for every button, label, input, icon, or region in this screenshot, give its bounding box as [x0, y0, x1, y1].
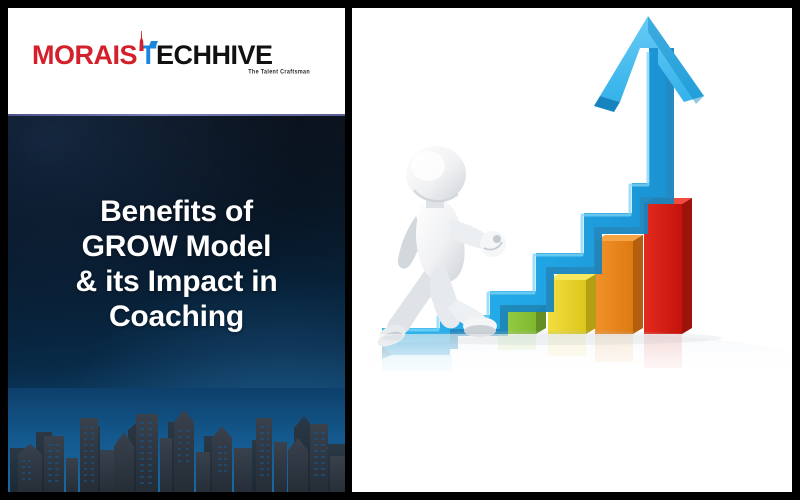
logo-text-morais: MORAIS — [32, 40, 137, 70]
brand-logo[interactable]: MORAISTECHHIVE The Talent Craftsman — [32, 40, 312, 92]
title-line-3: & its Impact in — [18, 264, 335, 299]
logo-tagline: The Talent Craftsman — [248, 69, 310, 76]
illustration-panel — [352, 8, 792, 492]
bar-4-red — [644, 198, 692, 334]
bar-3-orange — [595, 235, 643, 334]
poster-canvas: MORAISTECHHIVE The Talent Craftsman Bene… — [0, 0, 800, 500]
title-line-2: GROW Model — [18, 229, 335, 264]
logo-text-t: T — [137, 40, 156, 70]
logo-text-echhive: ECHHIVE — [156, 40, 273, 70]
page-title: Benefits of GROW Model & its Impact in C… — [8, 194, 345, 334]
title-line-1: Benefits of — [18, 194, 335, 229]
title-line-4: Coaching — [18, 299, 335, 334]
growth-staircase-arrow — [352, 8, 792, 408]
city-skyline-silhouette — [8, 388, 345, 492]
logo-band: MORAISTECHHIVE The Talent Craftsman — [8, 8, 345, 114]
title-panel: Benefits of GROW Model & its Impact in C… — [8, 116, 345, 492]
logo-wordmark: MORAISTECHHIVE — [32, 40, 312, 70]
bar-2-yellow — [548, 274, 596, 334]
left-panel: MORAISTECHHIVE The Talent Craftsman Bene… — [8, 8, 345, 492]
